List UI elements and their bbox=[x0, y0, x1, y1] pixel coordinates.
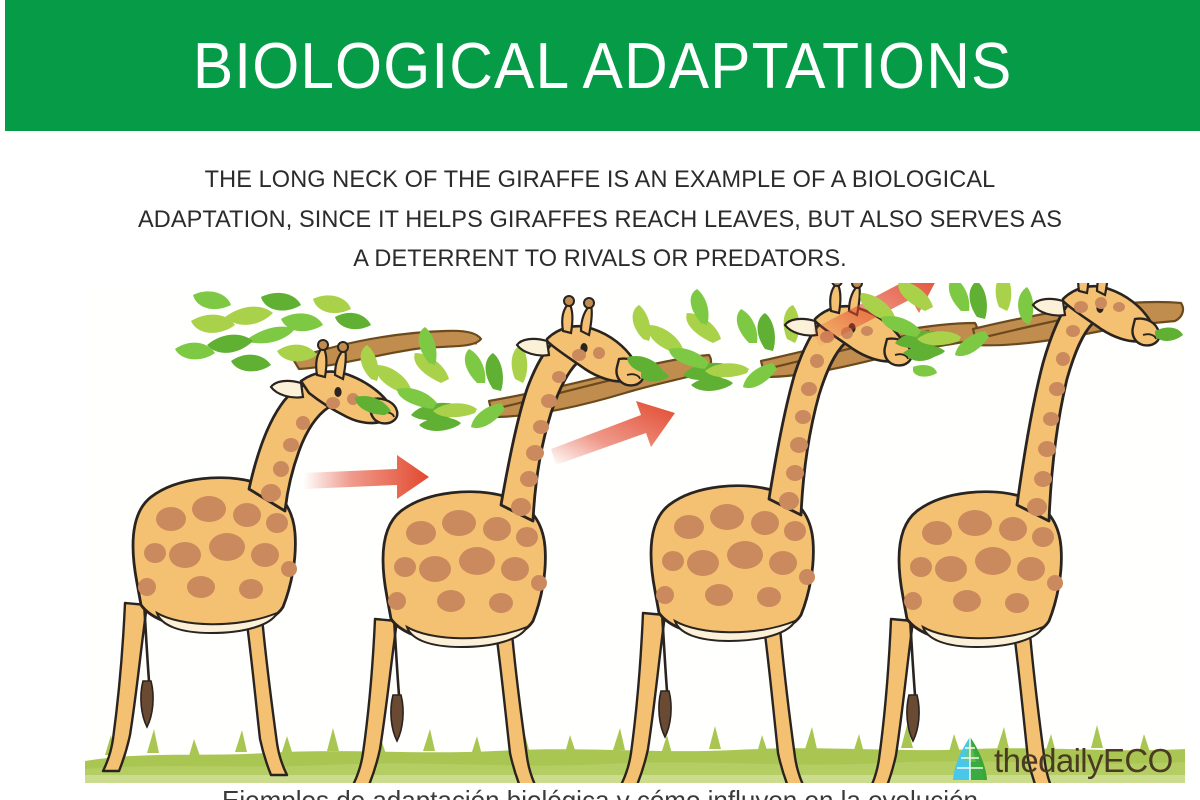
subtitle-block: THE LONG NECK OF THE GIRAFFE IS AN EXAMP… bbox=[110, 160, 1090, 279]
leaf-logo-icon bbox=[951, 736, 989, 784]
bottom-caption-text: Ejemplos de adaptación biológica y cómo … bbox=[0, 786, 1200, 800]
bottom-caption-strip: Ejemplos de adaptación biológica y cómo … bbox=[0, 786, 1200, 800]
giraffe-evolution-illustration bbox=[85, 283, 1185, 783]
page-title: BIOLOGICAL ADAPTATIONS bbox=[193, 33, 1013, 98]
infographic-page: BIOLOGICAL ADAPTATIONS THE LONG NECK OF … bbox=[0, 0, 1200, 800]
header-banner: BIOLOGICAL ADAPTATIONS bbox=[5, 0, 1200, 131]
evolution-arrow-2 bbox=[551, 401, 675, 465]
illustration-svg bbox=[85, 283, 1185, 783]
thedailyeco-logo[interactable]: thedailyECO bbox=[951, 736, 1173, 784]
logo-wordmark: thedailyECO bbox=[994, 744, 1173, 777]
giraffe-1-short-neck bbox=[103, 340, 397, 775]
subtitle-text: THE LONG NECK OF THE GIRAFFE IS AN EXAMP… bbox=[130, 160, 1071, 279]
evolution-arrow-1 bbox=[303, 455, 429, 499]
giraffe-2-medium-neck bbox=[353, 296, 669, 783]
